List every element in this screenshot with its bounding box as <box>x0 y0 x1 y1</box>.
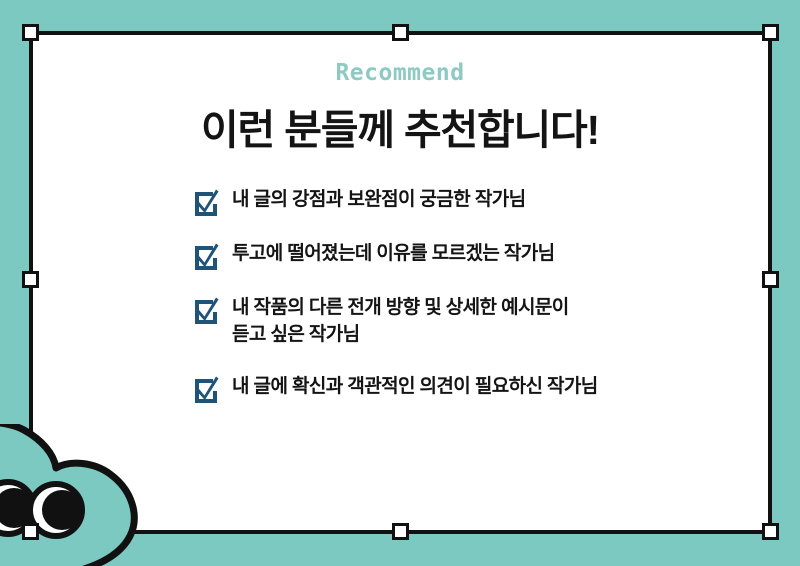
checkbox-checked-icon <box>192 241 219 271</box>
kicker-label: Recommend <box>0 60 800 86</box>
selection-handle-middle-left[interactable] <box>22 271 39 288</box>
list-item[interactable]: 내 글에 확신과 객관적인 의견이 필요하신 작가님 <box>192 373 712 403</box>
checkbox-checked-icon <box>192 374 219 404</box>
page-title: 이런 분들께 추천합니다! <box>0 96 800 156</box>
selection-handle-bottom-right[interactable] <box>762 523 779 540</box>
checkbox-checked-icon <box>192 295 219 325</box>
selection-handle-top-right[interactable] <box>762 24 779 41</box>
selection-handle-middle-right[interactable] <box>762 271 779 288</box>
list-item-label: 내 작품의 다른 전개 방향 및 상세한 예시문이 듣고 싶은 작가님 <box>232 294 569 349</box>
list-item[interactable]: 내 글의 강점과 보완점이 궁금한 작가님 <box>192 186 712 216</box>
recommendation-checklist: 내 글의 강점과 보완점이 궁금한 작가님 투고에 떨어졌는데 이유를 모르겠는… <box>192 186 712 403</box>
slide-canvas: Recommend 이런 분들께 추천합니다! 내 글의 강점과 보완점이 궁금… <box>0 0 800 566</box>
selection-handle-top-center[interactable] <box>392 24 409 41</box>
list-item[interactable]: 투고에 떨어졌는데 이유를 모르겠는 작가님 <box>192 240 712 270</box>
selection-handle-bottom-left[interactable] <box>22 523 39 540</box>
list-item-label: 내 글에 확신과 객관적인 의견이 필요하신 작가님 <box>232 373 598 401</box>
selection-handle-top-left[interactable] <box>22 24 39 41</box>
list-item-label: 내 글의 강점과 보완점이 궁금한 작가님 <box>232 186 525 214</box>
list-item[interactable]: 내 작품의 다른 전개 방향 및 상세한 예시문이 듣고 싶은 작가님 <box>192 294 712 349</box>
selection-handle-bottom-center[interactable] <box>392 523 409 540</box>
checkbox-checked-icon <box>192 187 219 217</box>
list-item-label: 투고에 떨어졌는데 이유를 모르겠는 작가님 <box>232 240 555 268</box>
